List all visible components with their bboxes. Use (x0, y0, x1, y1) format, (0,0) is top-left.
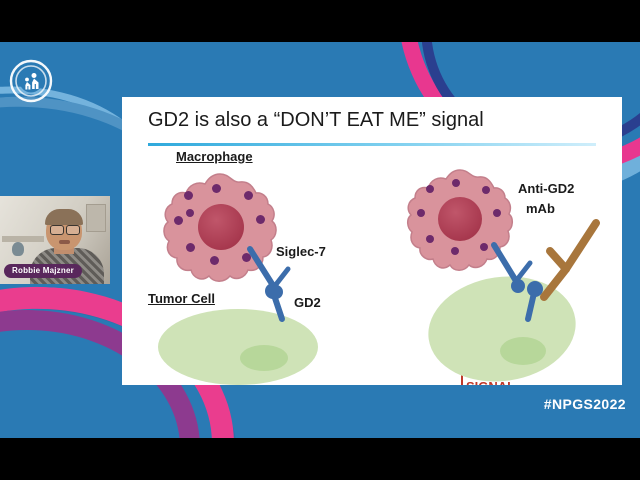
macrophage-granule (426, 185, 434, 193)
macrophage-nucleus (438, 197, 482, 241)
title-underline-rule (148, 143, 596, 146)
tumor-cell-nucleus-right (500, 337, 546, 365)
video-frame: Robbie Majzner #NPGS2022 GD2 is also a “… (0, 0, 640, 480)
macrophage-granule (426, 235, 434, 243)
macrophage-granule (417, 209, 425, 217)
letterbox-bottom (0, 438, 640, 480)
macrophage-nucleus (198, 204, 244, 250)
macrophage-granule (244, 191, 253, 200)
macrophage-granule (186, 209, 194, 217)
webcam-picture-frame (86, 204, 106, 232)
macrophage-granule (210, 256, 219, 265)
speaker-hair (45, 209, 83, 225)
macrophage-granule (212, 184, 221, 193)
macrophage-granule (186, 243, 195, 252)
speaker-glasses-left (50, 225, 64, 235)
label-siglec7: Siglec-7 (276, 244, 326, 259)
macrophage-granule (451, 247, 459, 255)
presentation-slide[interactable]: GD2 is also a “DON’T EAT ME” signal Macr… (122, 97, 622, 385)
macrophage-granule (256, 215, 265, 224)
letterbox-top (0, 0, 640, 42)
label-tumor-cell: Tumor Cell (148, 291, 215, 306)
anti-gd2-antibody-icon (526, 211, 610, 307)
slide-diagram: Macrophage Tumor Cell (122, 149, 622, 385)
macrophage-granule (482, 186, 490, 194)
speaker-mouth (59, 240, 70, 244)
speaker-name-badge: Robbie Majzner (4, 264, 82, 278)
macrophage-granule (174, 216, 183, 225)
event-hashtag: #NPGS2022 (544, 396, 626, 412)
label-anti-gd2-line2: mAb (526, 201, 555, 216)
speaker-video-tile[interactable]: Robbie Majzner (0, 196, 110, 284)
slide-title: GD2 is also a “DON’T EAT ME” signal (148, 109, 484, 132)
webcam-shelf (2, 236, 44, 242)
label-gd2: GD2 (294, 295, 321, 310)
webcam-object (12, 242, 24, 256)
organization-logo-icon (8, 58, 54, 104)
tumor-cell-nucleus-left (240, 345, 288, 371)
macrophage-granule (493, 209, 501, 217)
label-macrophage: Macrophage (176, 149, 253, 164)
macrophage-granule (184, 191, 193, 200)
speaker-glasses-right (66, 225, 80, 235)
label-anti-gd2-line1: Anti-GD2 (518, 181, 574, 196)
macrophage-granule (480, 243, 488, 251)
macrophage-granule (452, 179, 460, 187)
